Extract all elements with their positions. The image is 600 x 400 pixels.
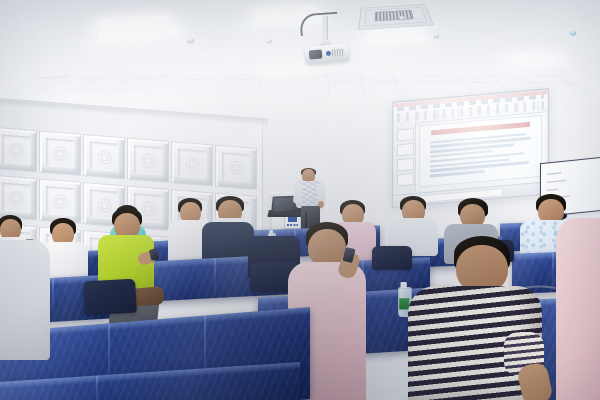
wall-panel — [172, 142, 212, 185]
audience-member-striped-shirt — [408, 236, 542, 400]
powerpoint-window — [394, 90, 547, 205]
chair — [372, 246, 412, 270]
slide-thumbnail — [397, 173, 414, 186]
slide-thumbnail — [397, 128, 414, 141]
projector-lens-icon — [309, 49, 323, 59]
chair — [83, 279, 137, 316]
wall-panel — [0, 128, 36, 171]
wall-panel — [216, 146, 256, 189]
wall-panel — [0, 176, 36, 219]
presenter — [296, 169, 326, 229]
wall-panel — [128, 139, 168, 182]
slide-thumbnail-pane — [394, 123, 416, 194]
phone-icon — [149, 248, 159, 261]
audience-member-right-edge — [556, 218, 600, 400]
seminar-room-photo — [0, 0, 600, 400]
wall-panel — [40, 180, 80, 223]
projector-vent — [332, 49, 345, 57]
wall-panel — [40, 132, 80, 175]
slide-thumbnail — [397, 143, 414, 156]
projector-mount-pole — [323, 16, 328, 43]
projection-screen — [392, 88, 549, 208]
audience-member-left-edge — [0, 240, 50, 360]
wall-panel — [84, 135, 124, 178]
slide-canvas — [419, 115, 542, 188]
slide-thumbnail — [397, 158, 414, 171]
projector-indicator-light — [326, 51, 331, 56]
